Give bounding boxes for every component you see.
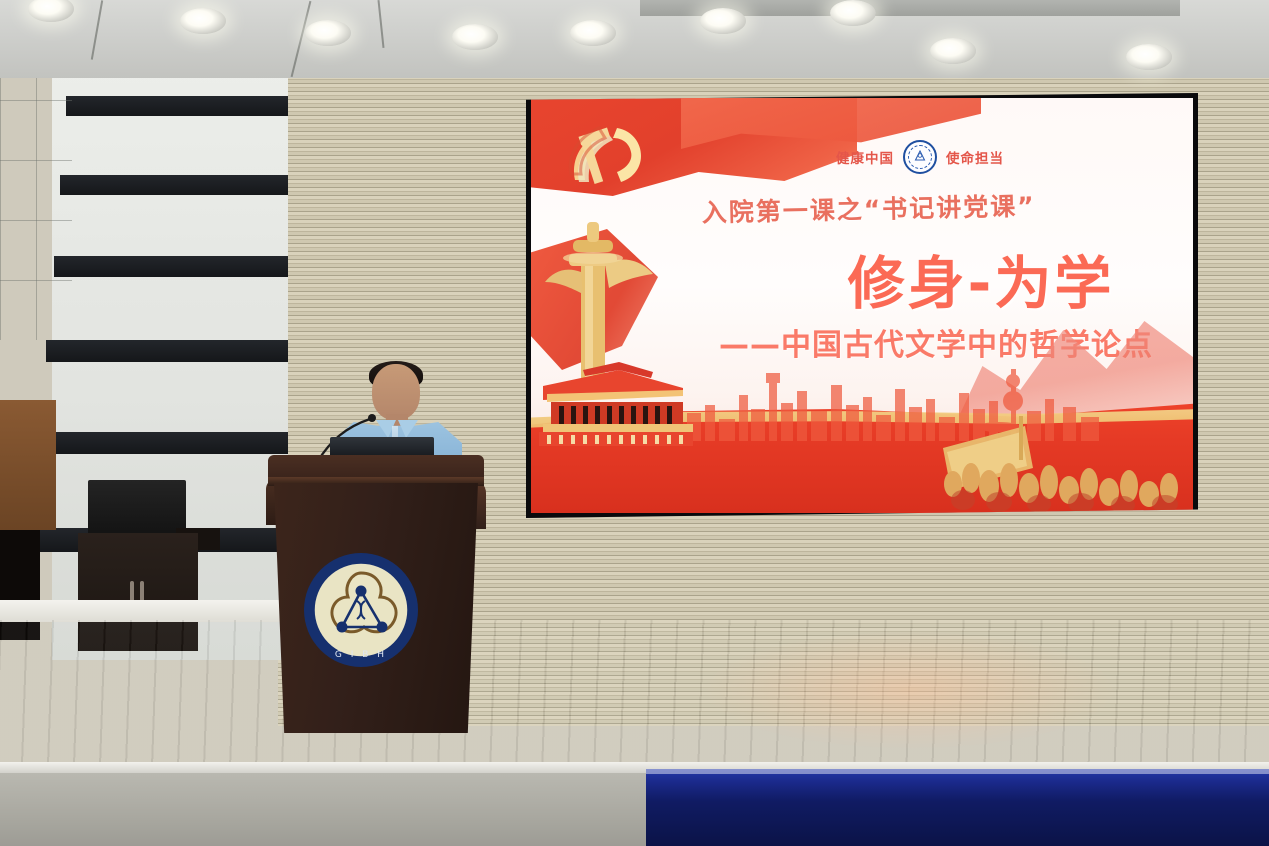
left-grid-panel (0, 40, 72, 340)
conference-hall-photo: 健康中国 使命担当 入院第一课之“书记讲党课” 修身-为学 ——中国古代文学中的… (0, 0, 1269, 846)
logo-right-text: 使命担当 (946, 147, 1004, 167)
downlight-3 (305, 20, 351, 46)
podium-top-surface (268, 455, 484, 485)
downlight-4 (452, 24, 498, 50)
foreground-blue-banner (646, 769, 1269, 846)
left-wood-trim (0, 400, 56, 530)
hammer-and-sickle-icon (557, 116, 653, 198)
wall-band-5 (36, 432, 288, 454)
health-china-emblem-icon (903, 140, 937, 174)
wall-band-1 (66, 96, 288, 116)
slide-surface: 健康中国 使命担当 入院第一课之“书记讲党课” 修身-为学 ——中国古代文学中的… (531, 98, 1193, 513)
monument-crowd-relief-icon (933, 408, 1193, 513)
lectern-podium: G I B H (268, 455, 484, 733)
wall-band-2 (60, 175, 288, 195)
slide-kicker-text: 入院第一课之“书记讲党课” (701, 187, 1036, 230)
led-display-screen: 健康中国 使命担当 入院第一课之“书记讲党课” 修身-为学 ——中国古代文学中的… (526, 93, 1198, 518)
downlight-5 (570, 20, 616, 46)
podium-emblem-initials: G I B H (335, 650, 387, 660)
ceiling-seam-3 (377, 0, 384, 48)
floor-skirting (0, 600, 290, 622)
health-china-logo-row: 健康中国 使命担当 (836, 140, 1004, 174)
stage-light-glow (700, 630, 1120, 750)
ceiling-seam-1 (91, 0, 103, 59)
institute-emblem-icon: G I B H (302, 551, 420, 669)
wall-band-3 (54, 256, 288, 277)
downlight-9 (1126, 44, 1172, 70)
blue-banner-highlight (646, 769, 1269, 774)
tiananmen-gate-icon (533, 360, 693, 455)
logo-left-text: 健康中国 (836, 147, 894, 167)
downlight-8 (930, 38, 976, 64)
wall-band-4 (46, 340, 288, 362)
downlight-6 (700, 8, 746, 34)
downlight-7 (830, 0, 876, 26)
slide-title-text: 修身-为学 (781, 238, 1181, 320)
slide-subtitle-text: ——中国古代文学中的哲学论点 (681, 320, 1191, 364)
downlight-2 (180, 8, 226, 34)
